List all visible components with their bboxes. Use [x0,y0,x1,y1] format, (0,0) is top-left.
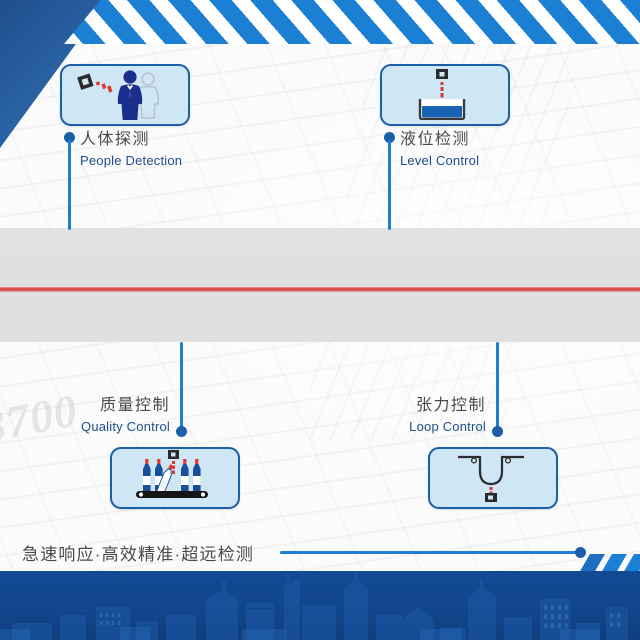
feature-label-en: People Detection [80,152,182,169]
tagline-connector-line [280,551,582,554]
feature-label-en: Level Control [400,152,479,169]
person-sensor-icon [62,66,184,120]
feature-card-loop-control[interactable] [428,447,558,509]
stripe-banner-top [40,0,640,46]
web-loop-sensor-icon [430,449,552,503]
center-gray-band [0,228,640,342]
feature-label-cn: 张力控制 [316,396,486,416]
feature-card-quality-control[interactable] [110,447,240,509]
feature-label-cn: 液位检测 [400,130,479,150]
feature-card-level-control[interactable] [380,64,510,126]
feature-label-cn: 人体探测 [80,130,182,150]
feature-label-people-detection: 人体探测 People Detection [80,130,182,169]
tagline-text: 急速响应·高效精准·超远检测 [22,540,254,565]
footer-skyline-band [0,571,640,640]
connector-dot-loop-control [492,426,503,437]
feature-label-quality-control: 质量控制 Quality Control [0,396,170,435]
stripe-banner-pattern [40,0,640,46]
feature-label-cn: 质量控制 [0,396,170,416]
connector-line-loop-control [496,342,499,430]
feature-label-loop-control: 张力控制 Loop Control [316,396,486,435]
connector-line-level-control [388,140,391,230]
infographic-stage: 3700 [0,0,640,640]
tank-level-sensor-icon [382,66,504,120]
feature-card-people-detection[interactable] [60,64,190,126]
city-skyline-silhouette [0,571,640,640]
bottles-conveyor-sensor-icon [112,449,234,503]
center-red-line [0,287,640,292]
feature-label-level-control: 液位检测 Level Control [400,130,479,169]
connector-line-quality-control [180,342,183,430]
connector-dot-quality-control [176,426,187,437]
feature-label-en: Loop Control [316,418,486,435]
connector-line-people-detection [68,140,71,230]
feature-label-en: Quality Control [0,418,170,435]
